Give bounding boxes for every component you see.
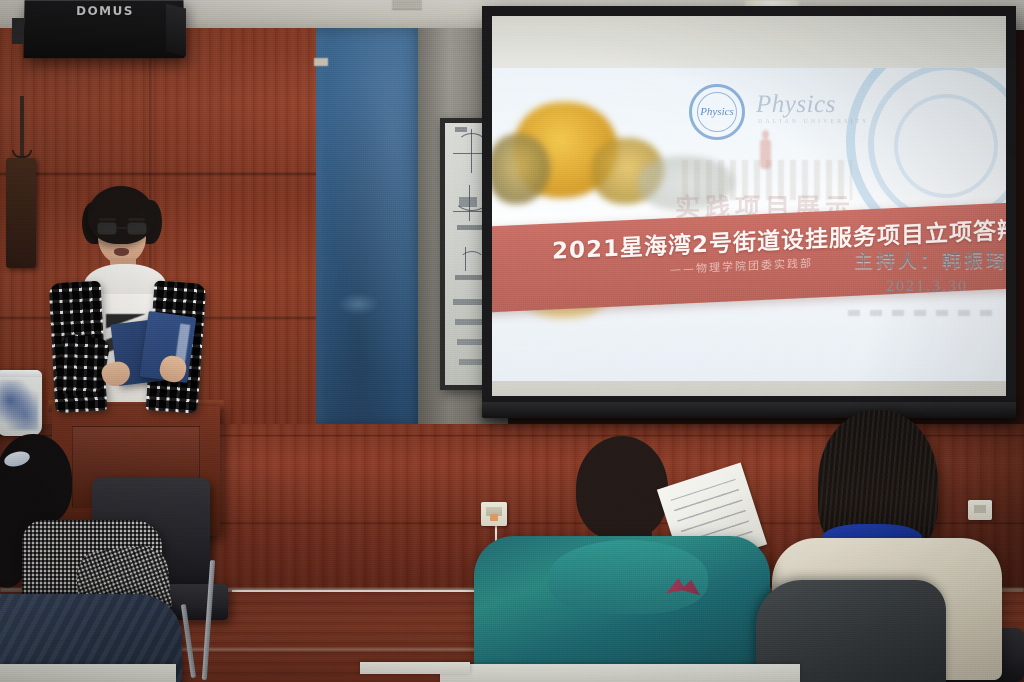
wb-equation-2 xyxy=(455,275,485,280)
wb-equation-1 xyxy=(457,225,483,230)
fixture-rod xyxy=(20,96,24,156)
audience-center-hood xyxy=(548,540,708,614)
speaker-bracket xyxy=(12,18,24,44)
presenter-glasses-icon xyxy=(97,222,147,235)
ceiling-speaker: DOMUS xyxy=(23,0,184,58)
blue-column xyxy=(316,28,424,428)
table-front-left xyxy=(0,664,176,682)
slide-host-label: 主持人：韩振琦 xyxy=(854,246,1006,273)
slide-content: Physics Physics DALIAN UNIVERSITY 实践项目展示 xyxy=(492,68,1006,381)
presenter-mouth xyxy=(114,248,129,256)
physics-wordmark-sub: DALIAN UNIVERSITY xyxy=(758,119,870,125)
wall-outlet-right xyxy=(968,500,992,520)
wb-label-1 xyxy=(455,127,467,132)
physics-seal-text: Physics xyxy=(700,107,734,118)
screen-surface: Physics Physics DALIAN UNIVERSITY 实践项目展示 xyxy=(492,16,1006,396)
physics-wordmark: Physics DALIAN UNIVERSITY xyxy=(756,92,870,125)
wall-outlet-center xyxy=(481,502,507,526)
ceiling-vent xyxy=(392,0,422,10)
screen-bottom-bar xyxy=(482,402,1016,418)
power-cable-floor-run xyxy=(232,590,498,592)
physics-seal-inner: Physics xyxy=(697,92,737,132)
speaker-brand-label: DOMUS xyxy=(76,4,134,18)
watermark-ring-inner-icon xyxy=(894,94,998,198)
wall-fixture xyxy=(4,96,40,271)
presenter-brow-left xyxy=(99,218,116,221)
wall-tag xyxy=(314,58,328,66)
projection-screen: Physics Physics DALIAN UNIVERSITY 实践项目展示 xyxy=(482,6,1016,416)
porcelain-vase xyxy=(0,370,42,436)
speaker-side-panel xyxy=(166,4,186,57)
table-front-center xyxy=(440,664,800,682)
vase-blue-pattern xyxy=(0,380,38,430)
slide-statue-watermark xyxy=(758,130,772,176)
physics-seal-icon: Physics xyxy=(689,84,745,140)
blue-column-scuff xyxy=(337,293,379,315)
fixture-hook-icon xyxy=(12,150,32,158)
wb-vector-group xyxy=(459,197,477,207)
presenter xyxy=(40,186,210,426)
presenter-hair xyxy=(88,186,154,244)
slide-faint-caption xyxy=(848,310,998,316)
presenter-brow-right xyxy=(128,218,145,221)
physics-wordmark-text: Physics xyxy=(756,91,836,118)
slide-date-label: 2021.3.30 xyxy=(886,278,968,296)
wb-text-4 xyxy=(459,359,483,365)
lecture-hall-photo: DOMUS xyxy=(0,0,1024,682)
wb-text-2 xyxy=(455,319,485,325)
table-front-center-2 xyxy=(360,662,470,674)
vase-rim xyxy=(0,370,42,377)
slide-top-margin xyxy=(492,16,1006,68)
wb-text-3 xyxy=(457,339,485,345)
fixture-body xyxy=(6,158,36,268)
